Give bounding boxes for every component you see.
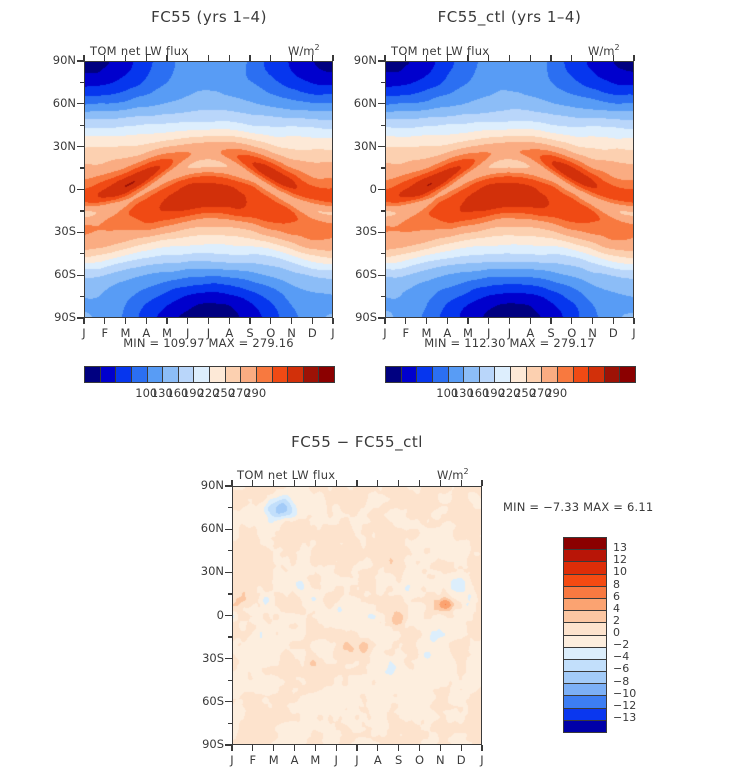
panel-difference-ylabel-30S: 30S xyxy=(176,651,224,665)
colorbar-difference-swatch-12 xyxy=(564,683,606,695)
panel-fc55ctl-xlabel-7: A xyxy=(521,326,539,340)
panel-fc55ctl-xlabel-4: M xyxy=(459,326,477,340)
colorbar-difference[interactable] xyxy=(563,537,607,733)
colorbar-difference-swatch-10 xyxy=(564,659,606,671)
panel-fc55ctl-ytick-minor-3 xyxy=(381,210,385,211)
panel-fc55-title: FC55 (yrs 1–4) xyxy=(84,8,334,26)
panel-fc55ctl-xlabel-2: M xyxy=(418,326,436,340)
panel-fc55-xtick-top-1 xyxy=(104,55,105,61)
colorbar-difference-label-5: 4 xyxy=(613,602,620,615)
panel-difference-ylabel-30N: 30N xyxy=(176,564,224,578)
panel-fc55ctl-xtick-bottom-1 xyxy=(405,318,406,324)
panel-fc55-plot-area xyxy=(84,61,333,318)
panel-fc55-xtick-bottom-9 xyxy=(270,318,271,324)
panel-fc55ctl-ytick-minor-5 xyxy=(381,296,385,297)
panel-fc55ctl-ylabel-60N: 60N xyxy=(329,96,377,110)
panel-difference-xlabel-7: A xyxy=(369,753,387,767)
panel-difference-title: FC55 − FC55_ctl xyxy=(232,433,482,451)
panel-difference-ytick-major-5 xyxy=(225,701,232,702)
panel-fc55-xtick-top-6 xyxy=(208,55,209,61)
panel-fc55ctl-xlabel-6: J xyxy=(501,326,519,340)
panel-fc55ctl-xtick-top-1 xyxy=(405,55,406,61)
colorbar-fc55-swatch-7 xyxy=(193,367,209,382)
panel-difference-xtick-bottom-0 xyxy=(231,745,232,751)
panel-fc55ctl-ytick-major-3 xyxy=(378,189,385,190)
panel-fc55-xlabel-10: N xyxy=(283,326,301,340)
colorbar-fc55ctl-label-290: 290 xyxy=(539,386,573,400)
colorbar-difference-label-4: 6 xyxy=(613,590,620,603)
panel-fc55ctl-xtick-bottom-7 xyxy=(530,318,531,324)
panel-difference-xtick-bottom-9 xyxy=(419,745,420,751)
colorbar-fc55ctl-swatch-1 xyxy=(401,367,417,382)
colorbar-difference-label-3: 8 xyxy=(613,578,620,591)
panel-fc55ctl-xtick-bottom-12 xyxy=(633,318,634,324)
colorbar-difference-label-11: −8 xyxy=(613,675,629,688)
panel-fc55ctl-xtick-top-4 xyxy=(467,55,468,61)
panel-difference-units: W/m2 xyxy=(437,467,469,482)
panel-fc55ctl-xtick-bottom-6 xyxy=(509,318,510,324)
panel-fc55-xtick-top-10 xyxy=(291,55,292,61)
colorbar-difference-swatch-11 xyxy=(564,671,606,683)
panel-fc55-xlabel-2: M xyxy=(117,326,135,340)
colorbar-fc55ctl-swatch-9 xyxy=(526,367,542,382)
panel-difference-xlabel-1: F xyxy=(244,753,262,767)
colorbar-fc55-swatch-3 xyxy=(131,367,147,382)
panel-difference-ytick-major-2 xyxy=(225,572,232,573)
panel-fc55ctl-xtick-top-6 xyxy=(509,55,510,61)
panel-fc55-ytick-minor-0 xyxy=(80,82,84,83)
panel-fc55ctl-xtick-bottom-9 xyxy=(571,318,572,324)
panel-difference-xlabel-9: O xyxy=(411,753,429,767)
panel-difference-xtick-top-11 xyxy=(461,480,462,486)
colorbar-difference-label-2: 10 xyxy=(613,565,627,578)
colorbar-difference-swatch-13 xyxy=(564,695,606,707)
panel-fc55ctl-plot-area xyxy=(385,61,634,318)
panel-difference-xtick-top-4 xyxy=(315,480,316,486)
colorbar-fc55-swatch-5 xyxy=(162,367,178,382)
panel-difference-xtick-bottom-1 xyxy=(252,745,253,751)
panel-difference-minmax: MIN = −7.33 MAX = 6.11 xyxy=(503,500,653,514)
colorbar-fc55ctl-swatch-3 xyxy=(432,367,448,382)
panel-fc55ctl-ytick-minor-2 xyxy=(381,167,385,168)
units-exponent: 2 xyxy=(463,467,468,476)
panel-difference-ytick-minor-5 xyxy=(228,723,232,724)
panel-difference-ylabel-90N: 90N xyxy=(176,478,224,492)
panel-fc55ctl-xtick-bottom-4 xyxy=(467,318,468,324)
panel-fc55ctl-ytick-major-5 xyxy=(378,275,385,276)
panel-fc55-xlabel-12: J xyxy=(324,326,342,340)
colorbar-difference-swatch-8 xyxy=(564,635,606,647)
panel-fc55-xtick-bottom-3 xyxy=(146,318,147,324)
panel-fc55-xtick-top-7 xyxy=(229,55,230,61)
colorbar-fc55-swatch-12 xyxy=(272,367,288,382)
colorbar-fc55-swatch-14 xyxy=(303,367,319,382)
colorbar-fc55ctl-swatch-13 xyxy=(588,367,604,382)
colorbar-difference-label-7: 0 xyxy=(613,626,620,639)
panel-difference-plot-area xyxy=(232,486,482,745)
panel-fc55ctl-xlabel-8: S xyxy=(542,326,560,340)
panel-difference-xtick-bottom-6 xyxy=(356,745,357,751)
panel-fc55ctl-xtick-top-11 xyxy=(613,55,614,61)
panel-fc55-xlabel-7: A xyxy=(220,326,238,340)
colorbar-difference-swatch-7 xyxy=(564,622,606,634)
panel-difference-xlabel-10: N xyxy=(431,753,449,767)
panel-fc55-xtick-bottom-6 xyxy=(208,318,209,324)
panel-fc55-ytick-major-3 xyxy=(77,189,84,190)
panel-difference-xtick-bottom-3 xyxy=(294,745,295,751)
panel-fc55ctl-xtick-bottom-5 xyxy=(488,318,489,324)
panel-fc55ctl-ytick-major-2 xyxy=(378,146,385,147)
colorbar-fc55ctl-swatch-14 xyxy=(604,367,620,382)
panel-fc55ctl-xlabel-12: J xyxy=(625,326,643,340)
colorbar-difference-label-1: 12 xyxy=(613,553,627,566)
panel-fc55ctl-xlabel-3: A xyxy=(438,326,456,340)
panel-difference-ytick-minor-3 xyxy=(228,636,232,637)
panel-difference-ytick-minor-2 xyxy=(228,593,232,594)
colorbar-fc55-swatch-4 xyxy=(147,367,163,382)
panel-difference-xtick-bottom-8 xyxy=(398,745,399,751)
panel-difference-xtick-top-10 xyxy=(440,480,441,486)
panel-fc55-ytick-major-1 xyxy=(77,103,84,104)
units-exponent: 2 xyxy=(314,43,319,52)
panel-difference-xtick-bottom-10 xyxy=(440,745,441,751)
panel-fc55-xtick-top-2 xyxy=(125,55,126,61)
panel-fc55-xtick-bottom-4 xyxy=(166,318,167,324)
panel-fc55-ylabel-60N: 60N xyxy=(28,96,76,110)
colorbar-difference-swatch-2 xyxy=(564,561,606,573)
panel-difference-xlabel-2: M xyxy=(265,753,283,767)
panel-fc55-xtick-bottom-10 xyxy=(291,318,292,324)
panel-difference-xtick-bottom-4 xyxy=(315,745,316,751)
panel-fc55-xtick-top-4 xyxy=(166,55,167,61)
panel-difference-xtick-top-7 xyxy=(377,480,378,486)
colorbar-difference-swatch-0 xyxy=(564,538,606,549)
panel-difference-xtick-bottom-2 xyxy=(273,745,274,751)
panel-fc55ctl-xlabel-10: N xyxy=(584,326,602,340)
colorbar-difference-label-9: −4 xyxy=(613,650,629,663)
panel-fc55-xlabel-3: A xyxy=(137,326,155,340)
panel-difference-xlabel-0: J xyxy=(223,753,241,767)
panel-fc55-xtick-bottom-8 xyxy=(249,318,250,324)
panel-fc55ctl-xtick-bottom-10 xyxy=(592,318,593,324)
colorbar-difference-swatch-15 xyxy=(564,720,606,732)
panel-difference-xlabel-11: D xyxy=(452,753,470,767)
panel-difference-ytick-major-4 xyxy=(225,658,232,659)
panel-fc55ctl-contour-canvas xyxy=(386,62,634,318)
panel-difference-xlabel-6: J xyxy=(348,753,366,767)
panel-fc55-xtick-top-3 xyxy=(146,55,147,61)
colorbar-fc55ctl-swatch-6 xyxy=(479,367,495,382)
colorbar-fc55[interactable] xyxy=(84,366,335,383)
panel-fc55-ytick-minor-2 xyxy=(80,167,84,168)
panel-fc55ctl-xlabel-1: F xyxy=(397,326,415,340)
colorbar-fc55-label-290: 290 xyxy=(238,386,272,400)
panel-fc55ctl-ylabel-30S: 30S xyxy=(329,224,377,238)
panel-fc55ctl-ytick-minor-0 xyxy=(381,82,385,83)
colorbar-fc55ctl-swatch-4 xyxy=(448,367,464,382)
panel-fc55-ytick-major-4 xyxy=(77,232,84,233)
colorbar-fc55ctl-swatch-11 xyxy=(557,367,573,382)
panel-fc55-xtick-top-11 xyxy=(312,55,313,61)
panel-fc55ctl-ytick-major-4 xyxy=(378,232,385,233)
panel-fc55ctl-xtick-top-7 xyxy=(530,55,531,61)
panel-difference-ylabel-90S: 90S xyxy=(176,737,224,751)
panel-fc55-xtick-top-9 xyxy=(270,55,271,61)
panel-fc55-xlabel-1: F xyxy=(96,326,114,340)
panel-fc55-ytick-minor-4 xyxy=(80,253,84,254)
panel-fc55-ylabel-0: 0 xyxy=(28,182,76,196)
colorbar-difference-swatch-4 xyxy=(564,586,606,598)
panel-difference-xtick-bottom-7 xyxy=(377,745,378,751)
colorbar-fc55ctl-swatch-7 xyxy=(494,367,510,382)
panel-fc55ctl-xlabel-0: J xyxy=(376,326,394,340)
colorbar-fc55-swatch-1 xyxy=(100,367,116,382)
panel-difference-xtick-bottom-11 xyxy=(461,745,462,751)
panel-fc55ctl-xtick-top-2 xyxy=(426,55,427,61)
panel-fc55ctl-xtick-top-5 xyxy=(488,55,489,61)
panel-difference-xtick-top-6 xyxy=(356,480,357,486)
colorbar-difference-label-10: −6 xyxy=(613,662,629,675)
panel-difference-xtick-bottom-12 xyxy=(481,745,482,751)
panel-fc55-xtick-top-8 xyxy=(249,55,250,61)
panel-difference-xlabel-12: J xyxy=(473,753,491,767)
panel-fc55ctl-ytick-major-1 xyxy=(378,103,385,104)
colorbar-fc55ctl-swatch-2 xyxy=(416,367,432,382)
panel-difference-xtick-top-1 xyxy=(252,480,253,486)
panel-fc55ctl-ytick-minor-4 xyxy=(381,253,385,254)
panel-fc55-xtick-top-5 xyxy=(187,55,188,61)
panel-fc55ctl-xtick-top-12 xyxy=(633,55,634,61)
panel-fc55-xlabel-9: O xyxy=(262,326,280,340)
colorbar-fc55ctl-swatch-10 xyxy=(541,367,557,382)
colorbar-fc55-swatch-6 xyxy=(178,367,194,382)
panel-difference-xlabel-5: J xyxy=(327,753,345,767)
panel-fc55ctl-xtick-bottom-11 xyxy=(613,318,614,324)
panel-fc55ctl-xtick-bottom-3 xyxy=(447,318,448,324)
panel-fc55ctl-xlabel-5: J xyxy=(480,326,498,340)
panel-difference-xtick-top-8 xyxy=(398,480,399,486)
panel-fc55-ytick-minor-1 xyxy=(80,125,84,126)
colorbar-difference-label-8: −2 xyxy=(613,638,629,651)
panel-fc55-units: W/m2 xyxy=(288,43,320,58)
panel-difference-xtick-top-5 xyxy=(336,480,337,486)
panel-fc55ctl-ylabel-90S: 90S xyxy=(329,310,377,324)
colorbar-fc55-swatch-0 xyxy=(85,367,100,382)
panel-difference-ytick-minor-1 xyxy=(228,550,232,551)
panel-fc55ctl-xlabel-11: D xyxy=(604,326,622,340)
panel-difference-ytick-minor-4 xyxy=(228,680,232,681)
panel-fc55-xtick-bottom-0 xyxy=(83,318,84,324)
colorbar-fc55-swatch-8 xyxy=(209,367,225,382)
panel-fc55-xlabel-11: D xyxy=(303,326,321,340)
colorbar-fc55-swatch-9 xyxy=(225,367,241,382)
panel-fc55ctl-ylabel-60S: 60S xyxy=(329,267,377,281)
panel-difference-ylabel-0: 0 xyxy=(176,608,224,622)
colorbar-fc55ctl-swatch-8 xyxy=(510,367,526,382)
colorbar-fc55-swatch-2 xyxy=(115,367,131,382)
panel-fc55-ylabel-30N: 30N xyxy=(28,139,76,153)
panel-difference-xtick-top-2 xyxy=(273,480,274,486)
panel-fc55-contour-canvas xyxy=(85,62,333,318)
panel-fc55-xlabel-6: J xyxy=(200,326,218,340)
panel-fc55-ylabel-90S: 90S xyxy=(28,310,76,324)
colorbar-fc55ctl-swatch-5 xyxy=(463,367,479,382)
colorbar-difference-label-12: −10 xyxy=(613,687,636,700)
colorbar-fc55ctl-swatch-15 xyxy=(619,367,635,382)
panel-fc55-xtick-bottom-5 xyxy=(187,318,188,324)
panel-difference-xlabel-3: A xyxy=(286,753,304,767)
panel-difference-contour-canvas xyxy=(233,487,482,745)
panel-difference-ytick-major-1 xyxy=(225,529,232,530)
panel-fc55-xtick-bottom-1 xyxy=(104,318,105,324)
panel-fc55-ytick-major-5 xyxy=(77,275,84,276)
panel-fc55-ylabel-30S: 30S xyxy=(28,224,76,238)
colorbar-fc55ctl-swatch-12 xyxy=(573,367,589,382)
panel-fc55-xtick-top-0 xyxy=(83,55,84,61)
panel-fc55ctl-xtick-bottom-0 xyxy=(384,318,385,324)
colorbar-difference-swatch-1 xyxy=(564,549,606,561)
panel-difference-xtick-top-12 xyxy=(481,480,482,486)
panel-fc55-xlabel-4: M xyxy=(158,326,176,340)
panel-fc55ctl-ylabel-30N: 30N xyxy=(329,139,377,153)
panel-fc55-xlabel-5: J xyxy=(179,326,197,340)
panel-fc55ctl-xtick-top-3 xyxy=(447,55,448,61)
panel-difference-xtick-top-9 xyxy=(419,480,420,486)
panel-fc55-xtick-bottom-7 xyxy=(229,318,230,324)
panel-fc55ctl-ytick-minor-1 xyxy=(381,125,385,126)
panel-fc55-ylabel-90N: 90N xyxy=(28,53,76,67)
colorbar-fc55ctl[interactable] xyxy=(385,366,636,383)
panel-fc55-ytick-minor-3 xyxy=(80,210,84,211)
panel-fc55ctl-xtick-top-8 xyxy=(550,55,551,61)
panel-fc55-ytick-major-2 xyxy=(77,146,84,147)
colorbar-difference-swatch-14 xyxy=(564,708,606,720)
colorbar-difference-swatch-3 xyxy=(564,574,606,586)
panel-difference-xlabel-4: M xyxy=(306,753,324,767)
panel-difference-ylabel-60S: 60S xyxy=(176,694,224,708)
panel-difference-ytick-minor-0 xyxy=(228,507,232,508)
panel-fc55ctl-ylabel-90N: 90N xyxy=(329,53,377,67)
colorbar-fc55-swatch-10 xyxy=(240,367,256,382)
panel-fc55-xlabel-8: S xyxy=(241,326,259,340)
units-exponent: 2 xyxy=(614,43,619,52)
panel-fc55ctl-title: FC55_ctl (yrs 1–4) xyxy=(385,8,634,26)
panel-difference-xlabel-8: S xyxy=(390,753,408,767)
panel-fc55ctl-xtick-bottom-2 xyxy=(426,318,427,324)
panel-fc55-xtick-bottom-11 xyxy=(312,318,313,324)
panel-fc55ctl-xtick-top-10 xyxy=(592,55,593,61)
panel-difference-ytick-major-3 xyxy=(225,615,232,616)
panel-fc55-xtick-bottom-2 xyxy=(125,318,126,324)
colorbar-fc55-swatch-13 xyxy=(287,367,303,382)
colorbar-difference-swatch-5 xyxy=(564,598,606,610)
colorbar-difference-label-6: 2 xyxy=(613,614,620,627)
colorbar-difference-label-14: −13 xyxy=(613,711,636,724)
panel-fc55-xlabel-0: J xyxy=(75,326,93,340)
panel-fc55-ylabel-60S: 60S xyxy=(28,267,76,281)
panel-difference-xtick-top-3 xyxy=(294,480,295,486)
colorbar-fc55-swatch-15 xyxy=(318,367,334,382)
colorbar-difference-label-0: 13 xyxy=(613,541,627,554)
panel-fc55ctl-xtick-top-9 xyxy=(571,55,572,61)
colorbar-difference-swatch-6 xyxy=(564,610,606,622)
panel-fc55ctl-xtick-top-0 xyxy=(384,55,385,61)
panel-fc55-ytick-minor-5 xyxy=(80,296,84,297)
colorbar-difference-swatch-9 xyxy=(564,647,606,659)
colorbar-fc55ctl-swatch-0 xyxy=(386,367,401,382)
colorbar-fc55-swatch-11 xyxy=(256,367,272,382)
panel-fc55ctl-xlabel-9: O xyxy=(563,326,581,340)
panel-difference-xtick-top-0 xyxy=(231,480,232,486)
panel-difference-xtick-bottom-5 xyxy=(336,745,337,751)
panel-difference-ylabel-60N: 60N xyxy=(176,521,224,535)
colorbar-difference-label-13: −12 xyxy=(613,699,636,712)
panel-fc55ctl-xtick-bottom-8 xyxy=(550,318,551,324)
panel-fc55ctl-ylabel-0: 0 xyxy=(329,182,377,196)
